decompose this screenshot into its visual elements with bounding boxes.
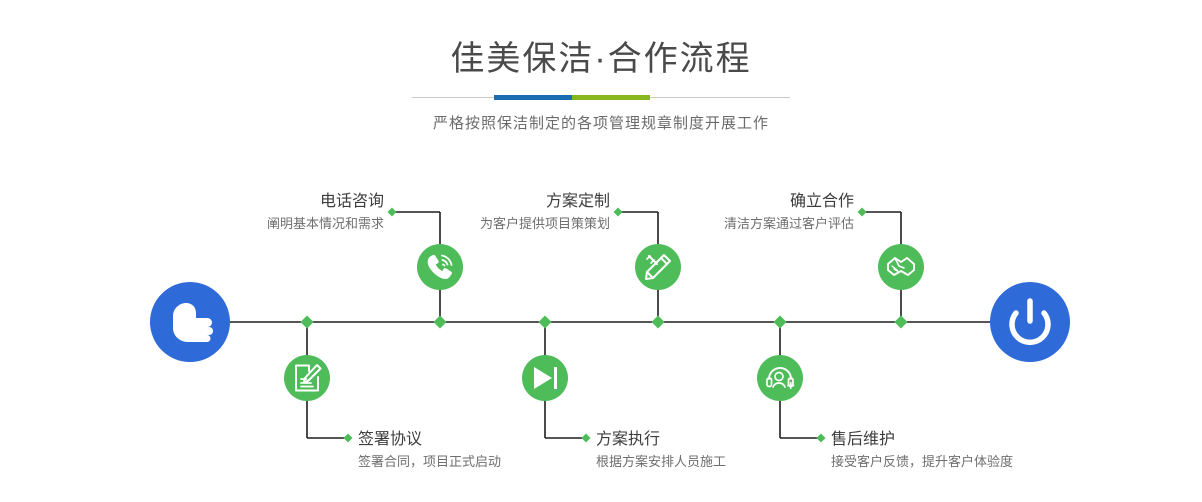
step-4-title: 方案执行 — [596, 430, 660, 448]
step-6-desc: 接受客户反馈，提升客户体验度 — [831, 454, 1013, 469]
step-3-desc: 为客户提供项目策策划 — [480, 216, 610, 231]
page-header: 佳美保洁·合作流程 严格按照保洁制定的各项管理规章制度开展工作 — [0, 0, 1202, 133]
page-subtitle: 严格按照保洁制定的各项管理规章制度开展工作 — [0, 100, 1202, 133]
step-node-4[interactable] — [522, 355, 568, 401]
step-node-5[interactable] — [878, 244, 924, 290]
step-2-circle — [284, 355, 330, 401]
step-4-desc: 根据方案安排人员施工 — [596, 454, 726, 469]
step-6-title: 售后维护 — [831, 430, 895, 448]
connector-diamond — [614, 208, 623, 217]
step-2-desc: 签署合同，项目正式启动 — [358, 454, 501, 469]
axis-diamond-6 — [895, 316, 908, 329]
step-5-desc: 清洁方案通过客户评估 — [724, 216, 854, 231]
connector-diamond — [344, 434, 353, 443]
divider-segment-blue — [494, 95, 572, 100]
step-node-2[interactable] — [284, 355, 330, 401]
connector-diamond — [858, 208, 867, 217]
connector-diamond — [388, 208, 397, 217]
divider-segment-green — [572, 95, 650, 100]
step-3-circle — [635, 244, 681, 290]
step-1-title: 电话咨询 — [320, 192, 384, 210]
axis-diamond-3 — [539, 316, 552, 329]
flow-start-node[interactable] — [150, 282, 230, 362]
axis-diamond-1 — [301, 316, 314, 329]
step-1-circle — [417, 244, 463, 290]
connector-diamond — [582, 434, 591, 443]
cooperation-flow-infographic: 佳美保洁·合作流程 严格按照保洁制定的各项管理规章制度开展工作 — [0, 0, 1202, 502]
page-title: 佳美保洁·合作流程 — [0, 0, 1202, 81]
flow-end-node[interactable] — [990, 282, 1070, 362]
step-1-desc: 阐明基本情况和需求 — [267, 216, 384, 231]
step-6-circle — [757, 355, 803, 401]
step-node-1[interactable] — [417, 244, 463, 290]
step-3-title: 方案定制 — [546, 192, 610, 210]
axis-diamond-4 — [652, 316, 665, 329]
step-node-6[interactable] — [757, 355, 803, 401]
step-2-title: 签署协议 — [358, 430, 422, 448]
flow-diagram: 电话咨询 阐明基本情况和需求 方案定制 为客户提供项目策策划 — [0, 150, 1202, 502]
title-divider — [412, 95, 790, 100]
axis-diamond-2 — [434, 316, 447, 329]
step-node-3[interactable] — [635, 244, 681, 290]
axis-diamond-5 — [774, 316, 787, 329]
connector-diamond — [817, 434, 826, 443]
step-5-title: 确立合作 — [790, 192, 854, 210]
